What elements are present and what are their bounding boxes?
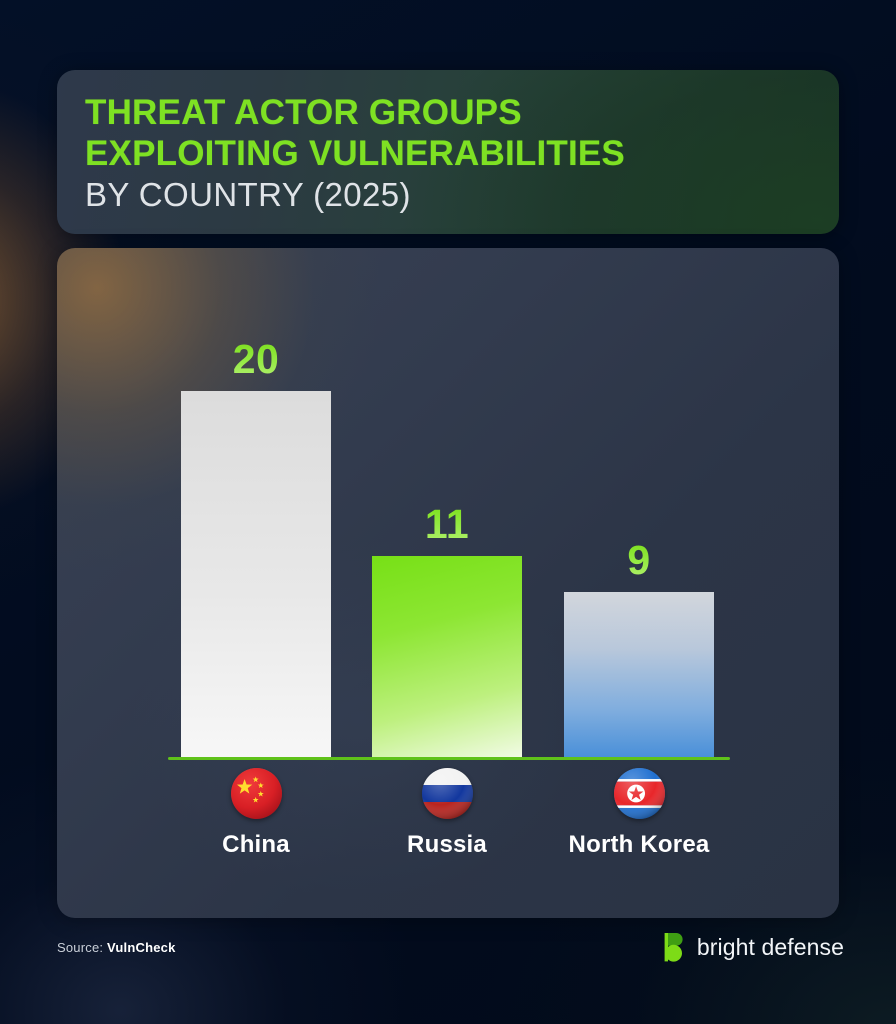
bar-russia[interactable] [372, 556, 522, 757]
infographic-page: THREAT ACTOR GROUPS EXPLOITING VULNERABI… [0, 0, 896, 1024]
country-label-russia: Russia [372, 831, 522, 859]
flag-north-korea-icon [614, 768, 665, 819]
axis-item-north-korea: North Korea [564, 768, 714, 859]
bar-slot-north-korea: 9 [564, 536, 714, 757]
page-subtitle: BY COUNTRY (2025) [85, 174, 819, 216]
bar-slot-russia: 11 [372, 500, 522, 757]
title-block: THREAT ACTOR GROUPS EXPLOITING VULNERABI… [85, 92, 819, 216]
page-title-line-2: EXPLOITING VULNERABILITIES [85, 133, 819, 174]
x-axis: China Russia [168, 768, 730, 888]
bar-slot-china: 20 [181, 335, 331, 757]
chart-baseline [168, 757, 730, 760]
country-label-north-korea: North Korea [564, 831, 714, 859]
bar-value-north-korea: 9 [564, 537, 714, 584]
axis-item-russia: Russia [372, 768, 522, 859]
country-label-china: China [181, 831, 331, 859]
bar-value-russia: 11 [372, 501, 522, 548]
bar-china[interactable] [181, 391, 331, 757]
brand-logo-text: bright defense [697, 934, 844, 961]
source-name: VulnCheck [107, 940, 176, 955]
bar-chart-plot-area: 20 11 9 [168, 292, 730, 760]
flag-china-icon [231, 768, 282, 819]
chart-card: 20 11 9 [57, 248, 839, 918]
page-title-line-1: THREAT ACTOR GROUPS [85, 92, 819, 133]
source-attribution: Source: VulnCheck [57, 940, 176, 955]
source-label: Source: [57, 940, 103, 955]
header-card: THREAT ACTOR GROUPS EXPLOITING VULNERABI… [57, 70, 839, 234]
bar-north-korea[interactable] [564, 592, 714, 757]
bar-value-china: 20 [181, 336, 331, 383]
flag-russia-icon [422, 768, 473, 819]
brand-logo[interactable]: bright defense [663, 932, 844, 962]
bright-defense-mark-icon [663, 932, 688, 962]
axis-item-china: China [181, 768, 331, 859]
